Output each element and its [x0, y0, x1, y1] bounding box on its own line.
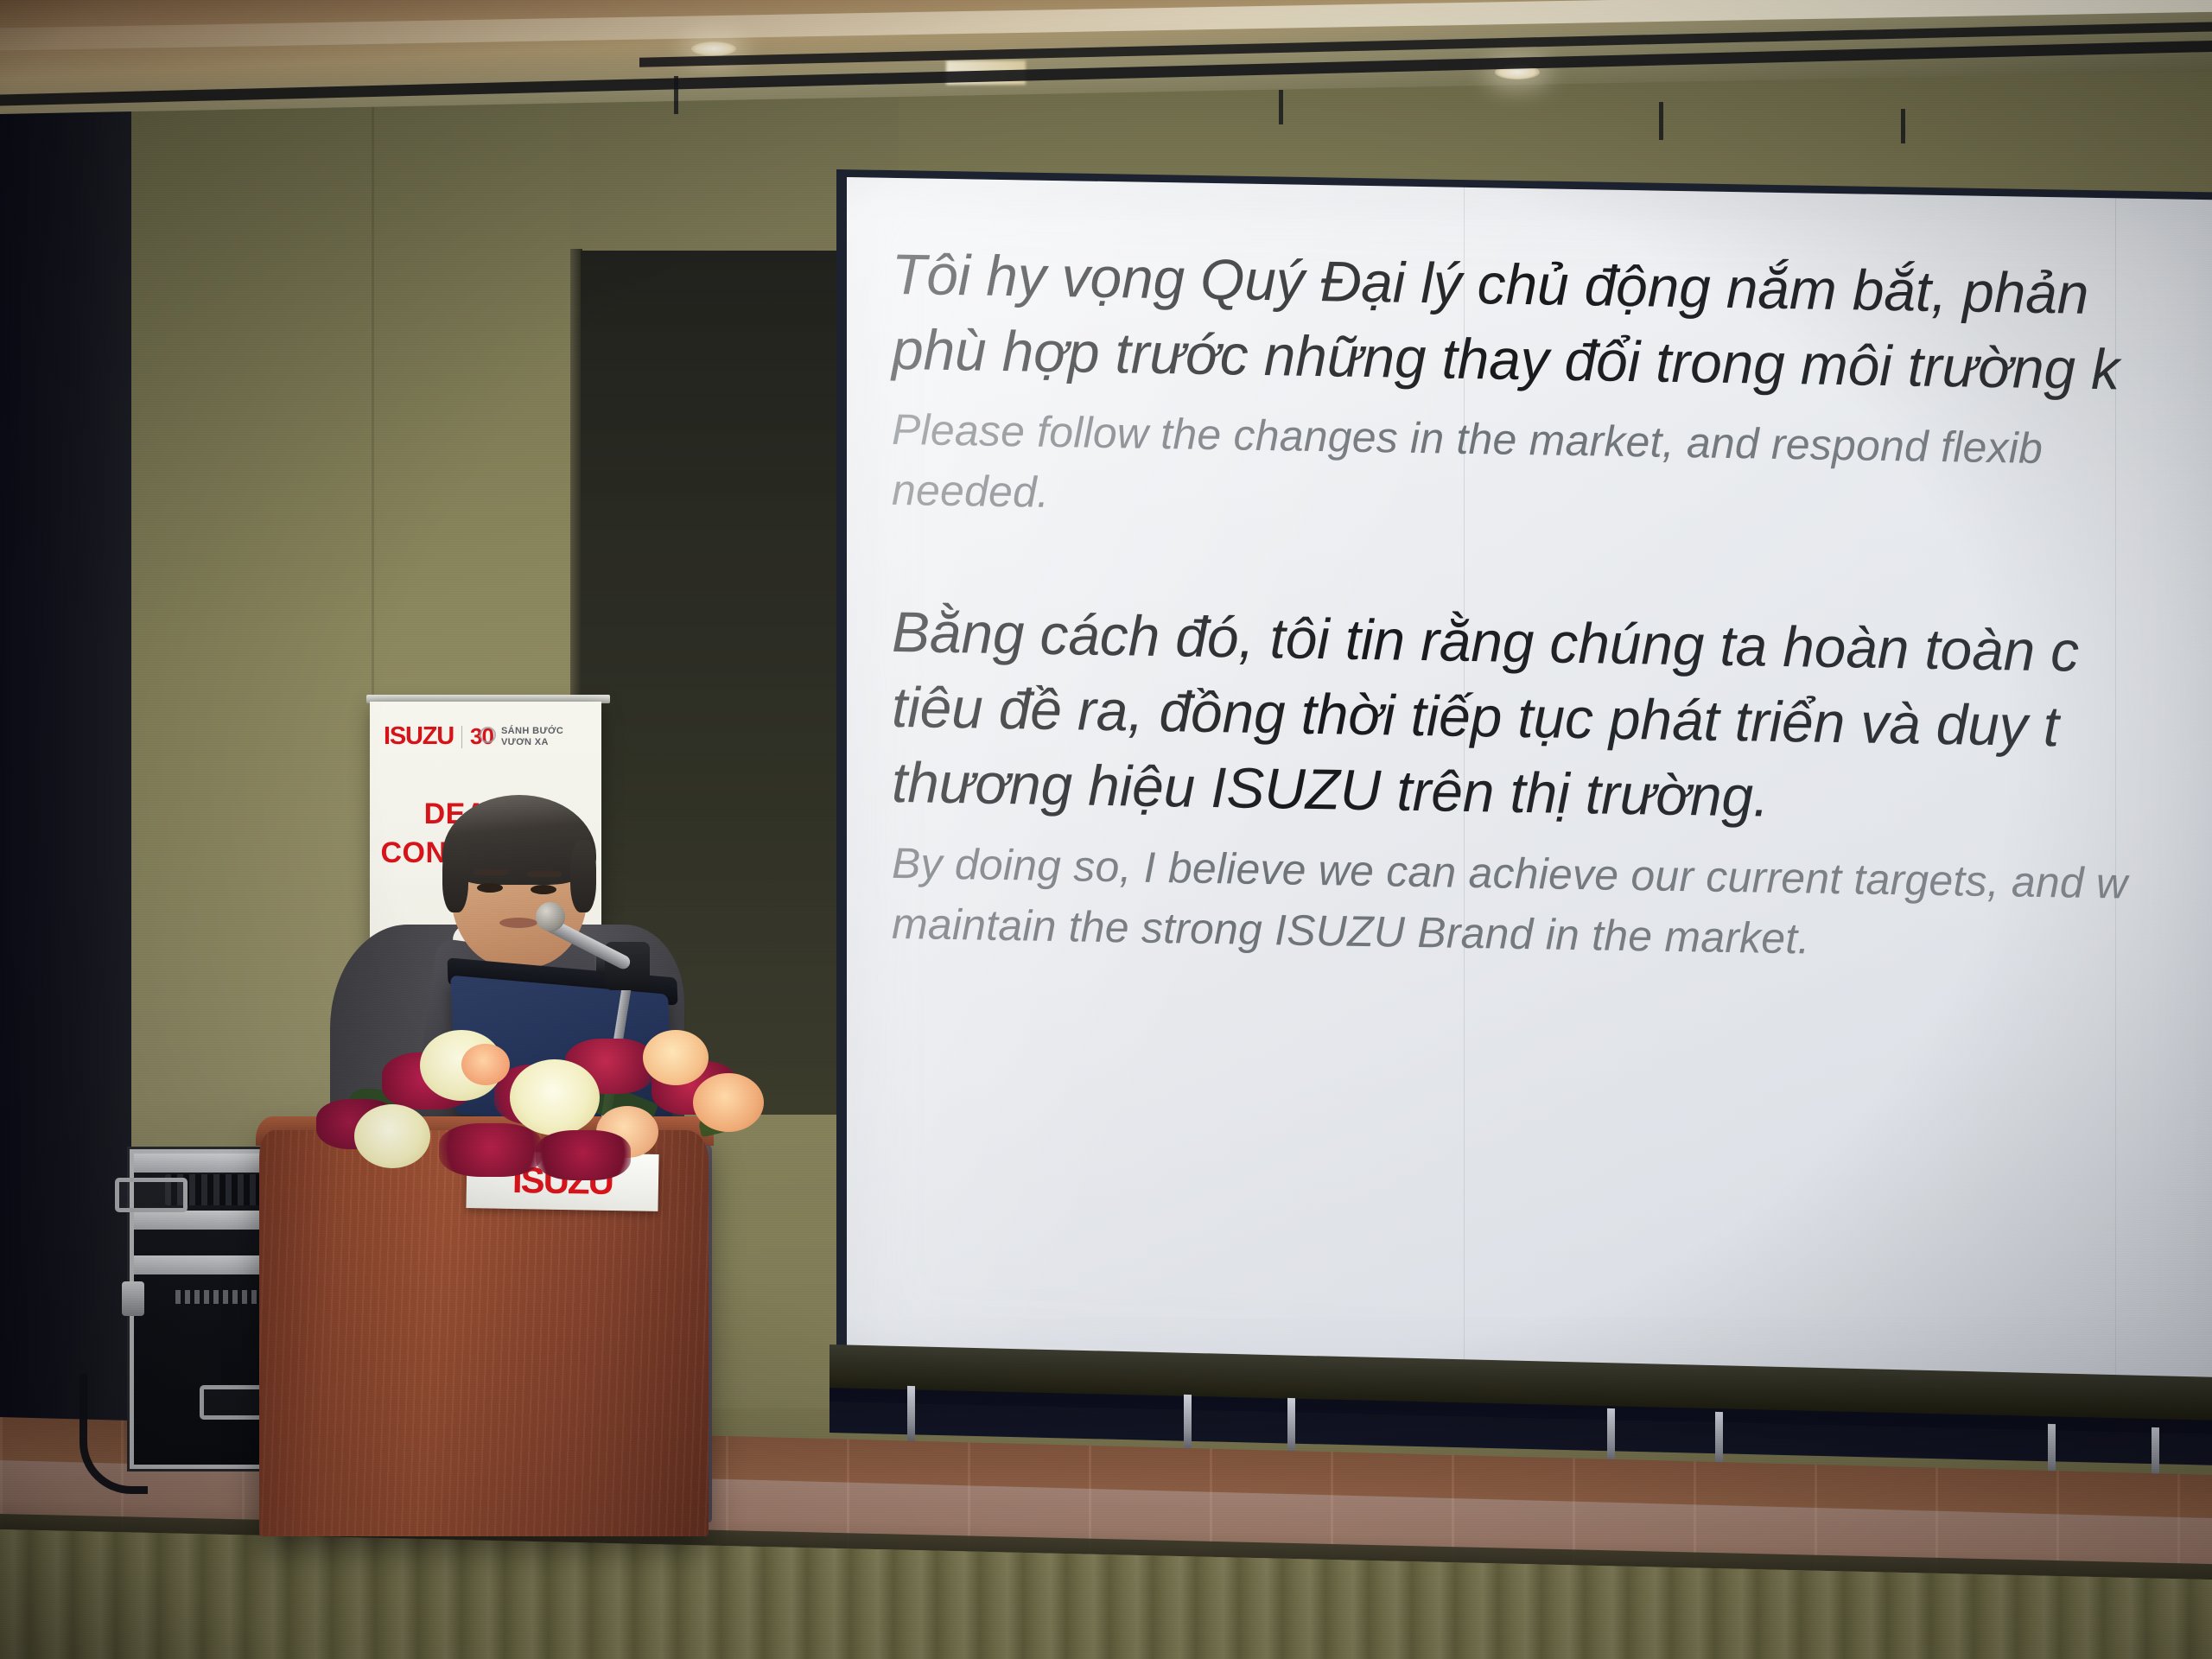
presentation-photo: Tôi hy vọng Quý Đại lý chủ động nắm bắt,… — [0, 0, 2212, 1659]
eyebrow-left — [474, 869, 508, 875]
eye-right — [531, 885, 556, 894]
banner-brand-logo: ISUZU — [384, 722, 454, 751]
anniversary-ring-icon — [480, 727, 496, 743]
banner-tagline-line1: SÁNH BƯỚC — [501, 726, 563, 736]
ceiling-hook — [674, 76, 678, 114]
banner-logo-row: ISUZU 30 SÁNH BƯỚC VƯƠN XA — [384, 722, 591, 751]
rack-latch — [122, 1281, 144, 1316]
ceiling-hook — [1279, 90, 1283, 124]
banner-tagline-line2: VƯƠN XA — [501, 737, 563, 747]
hair-side-right — [570, 840, 596, 912]
microphone-icon — [536, 902, 565, 931]
eyebrow-right — [527, 871, 562, 877]
banner-anniversary-number: 30 — [470, 723, 493, 750]
rack-handle — [115, 1178, 188, 1212]
ceiling-downlight — [691, 41, 736, 56]
projection-screen: Tôi hy vọng Quý Đại lý chủ động nắm bắt,… — [847, 177, 2212, 1382]
ceiling-hook — [1659, 102, 1663, 140]
banner-tagline: SÁNH BƯỚC VƯƠN XA — [501, 726, 563, 747]
slide-content: Tôi hy vọng Quý Đại lý chủ động nắm bắt,… — [892, 237, 2212, 982]
flower-arrangement — [309, 1009, 776, 1182]
banner-divider — [461, 726, 462, 748]
eye-left — [477, 883, 503, 893]
stage-curtain-left — [0, 52, 131, 1503]
hair-side-left — [442, 840, 468, 912]
mouth — [499, 918, 537, 928]
ceiling-hook — [1901, 109, 1905, 143]
banner-x-mark-icon: X — [535, 737, 542, 747]
